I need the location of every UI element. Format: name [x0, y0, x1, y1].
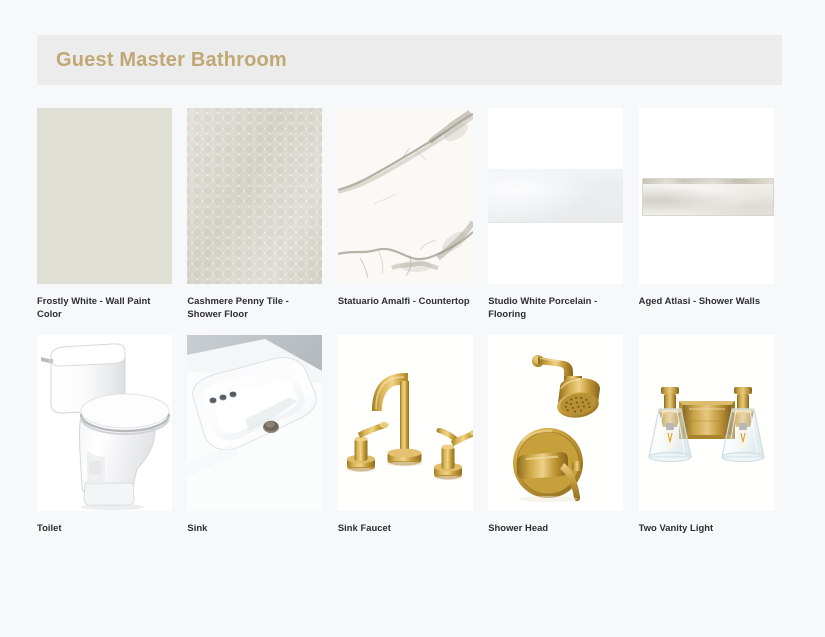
product-label: Cashmere Penny Tile -Shower Floor [187, 295, 320, 320]
product-label: Studio White Porcelain - Flooring [488, 295, 621, 320]
product-card-shower-floor-tile[interactable] [187, 108, 322, 284]
grid-row-fixtures: Toilet [37, 335, 789, 535]
toilet-photo-icon [37, 335, 172, 511]
product-label: Shower Head [488, 522, 621, 535]
aged-subway-tile-body [642, 178, 774, 216]
product-label: Sink [187, 522, 320, 535]
product-cell-vanity-light[interactable]: Two Vanity Light [639, 335, 789, 535]
gold-shower-trim-photo-icon [488, 335, 623, 511]
vanity-light-illustration [639, 335, 774, 511]
sink-illustration [187, 335, 322, 511]
product-label: Aged Atlasi - Shower Walls [639, 295, 772, 308]
two-light-vanity-photo-icon [639, 335, 774, 511]
grid-row-materials: Frostly White - Wall Paint Color Cashmer… [37, 108, 789, 320]
design-board-page: Guest Master Bathroom Frostly White - Wa… [0, 0, 825, 637]
aged-subway-tile-icon [639, 108, 774, 284]
product-cell-sink[interactable]: Sink [187, 335, 337, 535]
toilet-illustration [37, 335, 172, 511]
product-card-countertop[interactable] [338, 108, 473, 284]
product-cell-shower-floor-tile[interactable]: Cashmere Penny Tile -Shower Floor [187, 108, 337, 320]
product-cell-shower-walls[interactable]: Aged Atlasi - Shower Walls [639, 108, 789, 320]
product-cell-wall-paint[interactable]: Frostly White - Wall Paint Color [37, 108, 187, 320]
undermount-sink-photo-icon [187, 335, 322, 511]
product-card-sink-faucet[interactable] [338, 335, 473, 511]
product-cell-countertop[interactable]: Statuario Amalfi - Countertop [338, 108, 488, 320]
product-grid: Frostly White - Wall Paint Color Cashmer… [37, 108, 789, 535]
product-label: Sink Faucet [338, 522, 471, 535]
product-card-vanity-light[interactable] [639, 335, 774, 511]
paint-swatch-icon [37, 108, 172, 284]
page-title: Guest Master Bathroom [56, 49, 287, 72]
marble-veining [338, 108, 473, 284]
product-cell-flooring[interactable]: Studio White Porcelain - Flooring [488, 108, 638, 320]
product-card-wall-paint[interactable] [37, 108, 172, 284]
product-label: Two Vanity Light [639, 522, 772, 535]
product-label: Statuario Amalfi - Countertop [338, 295, 471, 308]
product-card-toilet[interactable] [37, 335, 172, 511]
penny-tile-swatch-icon [187, 108, 322, 284]
product-cell-sink-faucet[interactable]: Sink Faucet [338, 335, 488, 535]
penny-tile-shading [187, 108, 322, 284]
product-card-shower-walls[interactable] [639, 108, 774, 284]
marble-slab-icon [338, 108, 473, 284]
product-card-shower-head[interactable] [488, 335, 623, 511]
white-plank-tile-body [488, 168, 623, 223]
faucet-illustration [338, 335, 473, 511]
product-label: Toilet [37, 522, 170, 535]
product-cell-toilet[interactable]: Toilet [37, 335, 187, 535]
product-card-sink[interactable] [187, 335, 322, 511]
room-banner: Guest Master Bathroom [37, 35, 782, 85]
product-label: Frostly White - Wall Paint Color [37, 295, 170, 320]
product-card-flooring[interactable] [488, 108, 623, 284]
white-plank-tile-icon [488, 108, 623, 284]
product-cell-shower-head[interactable]: Shower Head [488, 335, 638, 535]
shower-head-illustration [488, 335, 623, 511]
gold-faucet-photo-icon [338, 335, 473, 511]
